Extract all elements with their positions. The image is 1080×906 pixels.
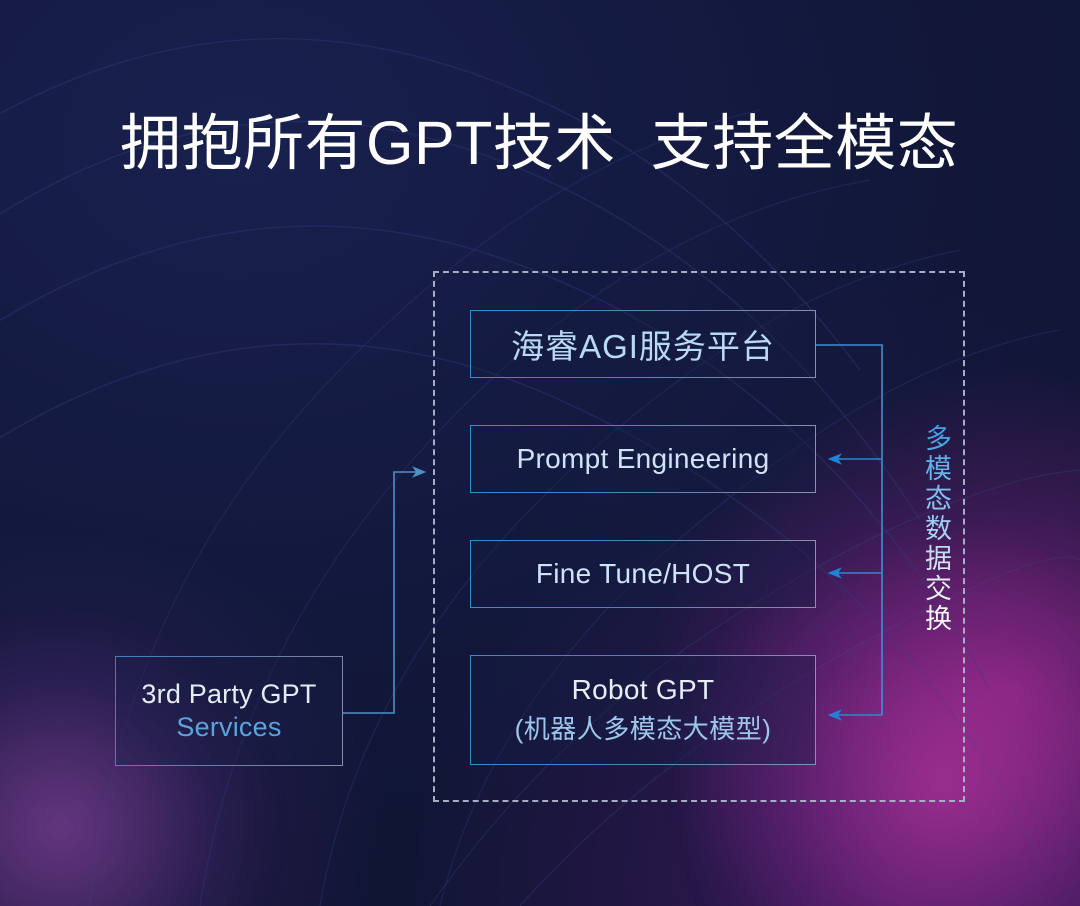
node-robot-gpt[interactable]: Robot GPT (机器人多模态大模型) (470, 655, 816, 765)
node-sublabel: (机器人多模态大模型) (515, 709, 772, 746)
node-haier-agi-platform[interactable]: 海睿AGI服务平台 (470, 310, 816, 378)
node-fine-tune-host[interactable]: Fine Tune/HOST (470, 540, 816, 608)
page-title: 拥抱所有GPT技术 支持全模态 (120, 113, 958, 174)
node-label: Prompt Engineering (517, 443, 770, 475)
node-label: 3rd Party GPT (141, 679, 316, 710)
node-third-party-gpt-services[interactable]: 3rd Party GPT Services (115, 656, 343, 766)
vertical-region-label: 多模态数据交换 (917, 424, 956, 634)
node-sublabel: Services (176, 712, 281, 743)
node-prompt-engineering[interactable]: Prompt Engineering (470, 425, 816, 493)
node-label: Fine Tune/HOST (536, 558, 750, 590)
slide-canvas: 拥抱所有GPT技术 支持全模态 海睿AGI服务平台 Prompt Enginee… (0, 0, 1080, 906)
node-label: 海睿AGI服务平台 (511, 320, 775, 368)
node-label: Robot GPT (572, 674, 715, 706)
